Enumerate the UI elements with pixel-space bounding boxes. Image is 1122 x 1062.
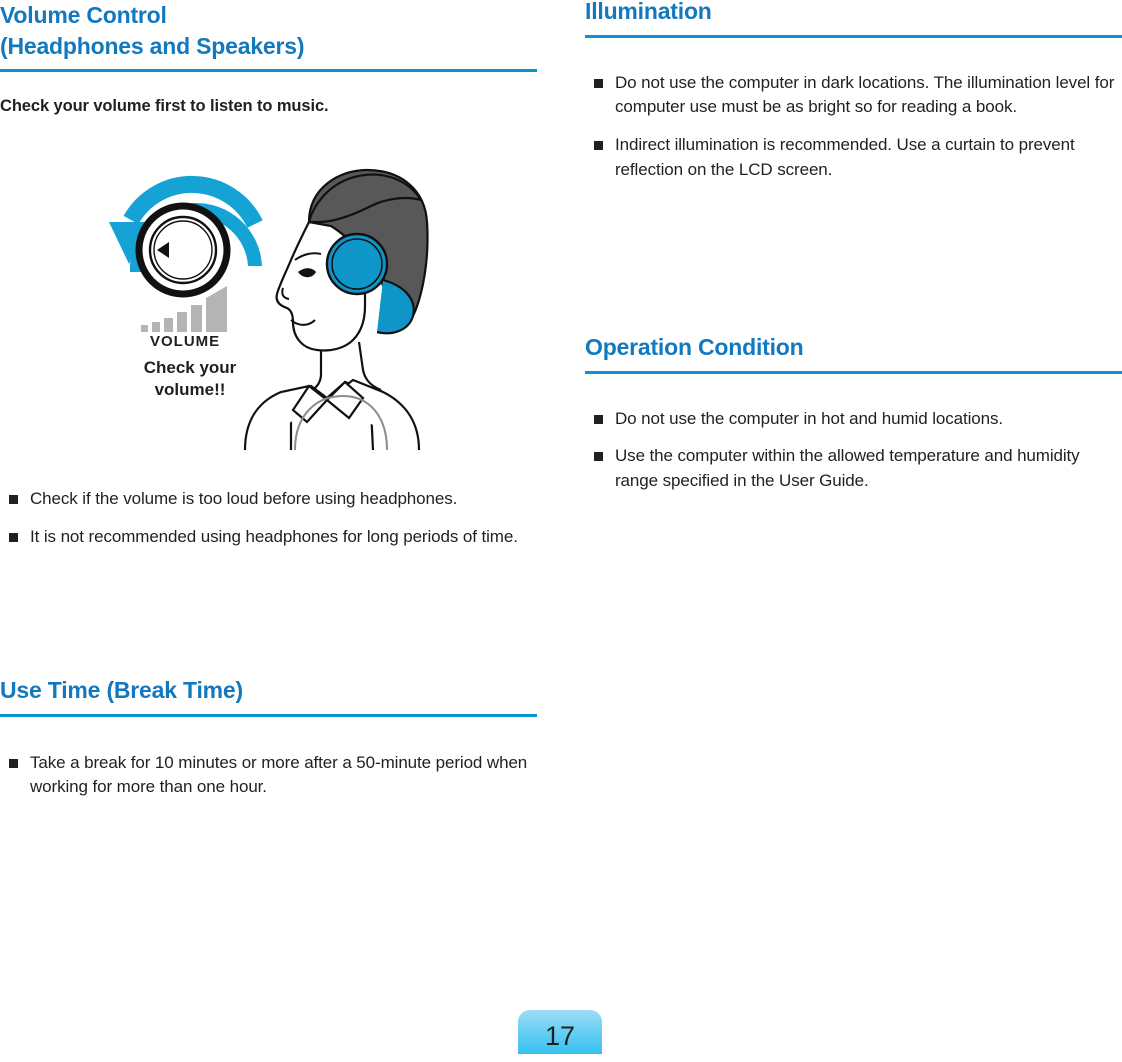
list-item: It is not recommended using headphones f… bbox=[0, 525, 537, 550]
section-illumination: Illumination Do not use the computer in … bbox=[585, 0, 1122, 198]
manual-page: Volume Control (Headphones and Speakers)… bbox=[0, 0, 1122, 1046]
volume-knob-icon bbox=[139, 206, 227, 294]
section-title-line-1: Use Time (Break Time) bbox=[0, 677, 243, 703]
section-title-line-1: Illumination bbox=[585, 0, 712, 24]
square-bullet-icon bbox=[9, 495, 18, 504]
section-rule bbox=[585, 371, 1122, 374]
person-with-headphones-illustration bbox=[245, 170, 428, 450]
list-item-text: Do not use the computer in dark location… bbox=[615, 73, 1114, 117]
section-rule bbox=[0, 69, 537, 72]
square-bullet-icon bbox=[594, 141, 603, 150]
square-bullet-icon bbox=[594, 452, 603, 461]
figure-caption-line-1: Check your bbox=[144, 358, 237, 377]
figure-caption: Check your volume!! bbox=[100, 357, 280, 401]
section-title-volume-control: Volume Control (Headphones and Speakers) bbox=[0, 0, 537, 61]
list-item: Indirect illumination is recommended. Us… bbox=[585, 133, 1122, 182]
square-bullet-icon bbox=[594, 415, 603, 424]
section-volume-control: Volume Control (Headphones and Speakers)… bbox=[0, 0, 537, 116]
list-item-text: Do not use the computer in hot and humid… bbox=[615, 409, 1003, 428]
list-item-text: It is not recommended using headphones f… bbox=[30, 527, 518, 546]
section-title-use-time: Use Time (Break Time) bbox=[0, 675, 537, 706]
section-rule bbox=[0, 714, 537, 717]
list-item-text: Take a break for 10 minutes or more afte… bbox=[30, 753, 527, 797]
list-item: Do not use the computer in hot and humid… bbox=[585, 407, 1122, 432]
page-number-badge: 17 bbox=[518, 1010, 602, 1054]
square-bullet-icon bbox=[594, 79, 603, 88]
section-title-line-2: (Headphones and Speakers) bbox=[0, 31, 537, 62]
list-item-text: Indirect illumination is recommended. Us… bbox=[615, 135, 1075, 179]
operation-condition-bullet-list: Do not use the computer in hot and humid… bbox=[585, 407, 1122, 494]
list-item-text: Check if the volume is too loud before u… bbox=[30, 489, 457, 508]
figure-caption-line-2: volume!! bbox=[100, 379, 280, 401]
section-rule bbox=[585, 35, 1122, 38]
list-item: Do not use the computer in dark location… bbox=[585, 71, 1122, 120]
list-item: Check if the volume is too loud before u… bbox=[0, 487, 537, 512]
section-title-line-1: Operation Condition bbox=[585, 334, 804, 360]
list-item: Take a break for 10 minutes or more afte… bbox=[0, 751, 537, 800]
list-item: Use the computer within the allowed temp… bbox=[585, 444, 1122, 493]
use-time-bullet-list: Take a break for 10 minutes or more afte… bbox=[0, 751, 537, 800]
volume-control-bullet-list: Check if the volume is too loud before u… bbox=[0, 487, 537, 549]
section-use-time: Use Time (Break Time) Take a break for 1… bbox=[0, 675, 537, 816]
illumination-bullet-list: Do not use the computer in dark location… bbox=[585, 71, 1122, 183]
section-subheading: Check your volume first to listen to mus… bbox=[0, 97, 537, 116]
square-bullet-icon bbox=[9, 533, 18, 542]
section-title-illumination: Illumination bbox=[585, 0, 1122, 27]
section-title-operation-condition: Operation Condition bbox=[585, 332, 1122, 363]
section-operation-condition: Operation Condition Do not use the compu… bbox=[585, 332, 1122, 510]
volume-illustration bbox=[95, 160, 435, 450]
list-item-text: Use the computer within the allowed temp… bbox=[615, 446, 1080, 490]
square-bullet-icon bbox=[9, 759, 18, 768]
volume-label: VOLUME bbox=[150, 333, 220, 350]
section-title-line-1: Volume Control bbox=[0, 2, 167, 28]
